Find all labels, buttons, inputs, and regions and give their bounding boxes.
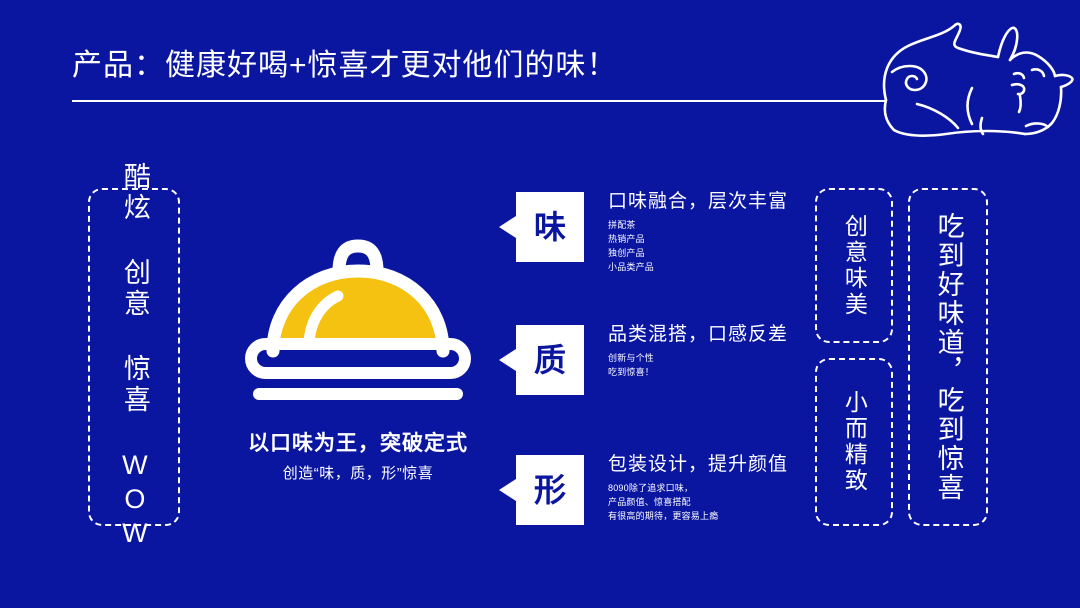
key-chip-label: 形 [534,474,566,506]
key-chip[interactable]: 形 [516,455,584,525]
slide-canvas: 产品：健康好喝+惊喜才更对他们的味！ 酷炫 创意 惊喜 WOW [0,0,1080,608]
right-panel-slogan: 吃到好味道，吃到惊喜 [908,188,988,526]
right-panel-small-refined: 小而精致 [815,358,893,526]
center-subline: 创造“味，质，形”惊喜 [218,462,498,483]
sleeping-cat-icon [862,8,1080,160]
page-title: 产品：健康好喝+惊喜才更对他们的味！ [72,40,618,84]
right-panel-text: 小而精致 [841,390,868,494]
chip-arrow-icon [499,349,516,371]
right-panel-creative-taste: 创意味美 [815,188,893,343]
chip-arrow-icon [499,479,516,501]
key-chip-label: 味 [534,211,566,243]
left-keyword-panel: 酷炫 创意 惊喜 WOW [88,188,180,526]
right-panel-text: 吃到好味道，吃到惊喜 [932,212,963,502]
center-headline: 以口味为王，突破定式 [218,427,498,457]
key-chip-label: 质 [534,344,566,376]
right-panel-text: 创意味美 [841,214,868,318]
header-divider [72,100,885,102]
cloche-dish-icon [233,218,483,413]
key-chip[interactable]: 味 [516,192,584,262]
key-chip[interactable]: 质 [516,325,584,395]
left-keyword-text: 酷炫 创意 惊喜 WOW [118,162,150,552]
center-illustration-block: 以口味为王，突破定式 创造“味，质，形”惊喜 [218,210,498,490]
chip-arrow-icon [499,216,516,238]
